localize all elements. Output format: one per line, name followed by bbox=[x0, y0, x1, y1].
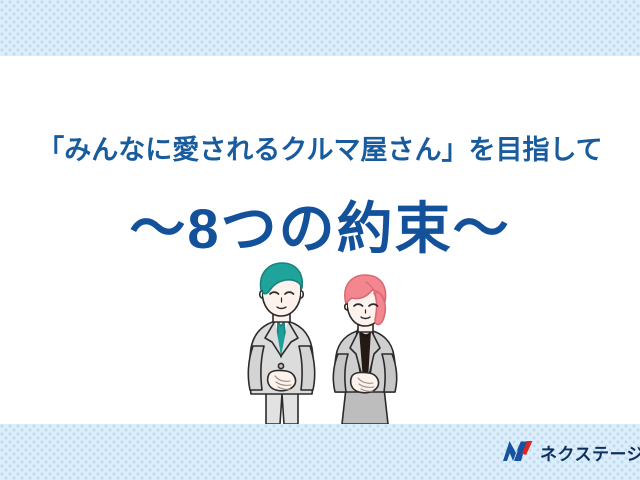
page-subtitle: 「みんなに愛されるクルマ屋さん」を目指して bbox=[0, 128, 640, 167]
nextage-wordmark: ネクステージ bbox=[540, 446, 640, 463]
two-staff-bowing-illustration bbox=[228, 262, 418, 430]
page-title: 〜8つの約束〜 bbox=[0, 184, 640, 265]
female-staff-figure bbox=[333, 275, 396, 424]
slide-canvas: 「みんなに愛されるクルマ屋さん」を目指して 〜8つの約束〜 bbox=[0, 0, 640, 480]
nextage-n-mark-icon bbox=[503, 441, 533, 467]
top-dotted-band bbox=[0, 0, 640, 56]
male-staff-figure bbox=[248, 263, 314, 424]
nextage-logo: ネクステージ bbox=[503, 441, 640, 467]
